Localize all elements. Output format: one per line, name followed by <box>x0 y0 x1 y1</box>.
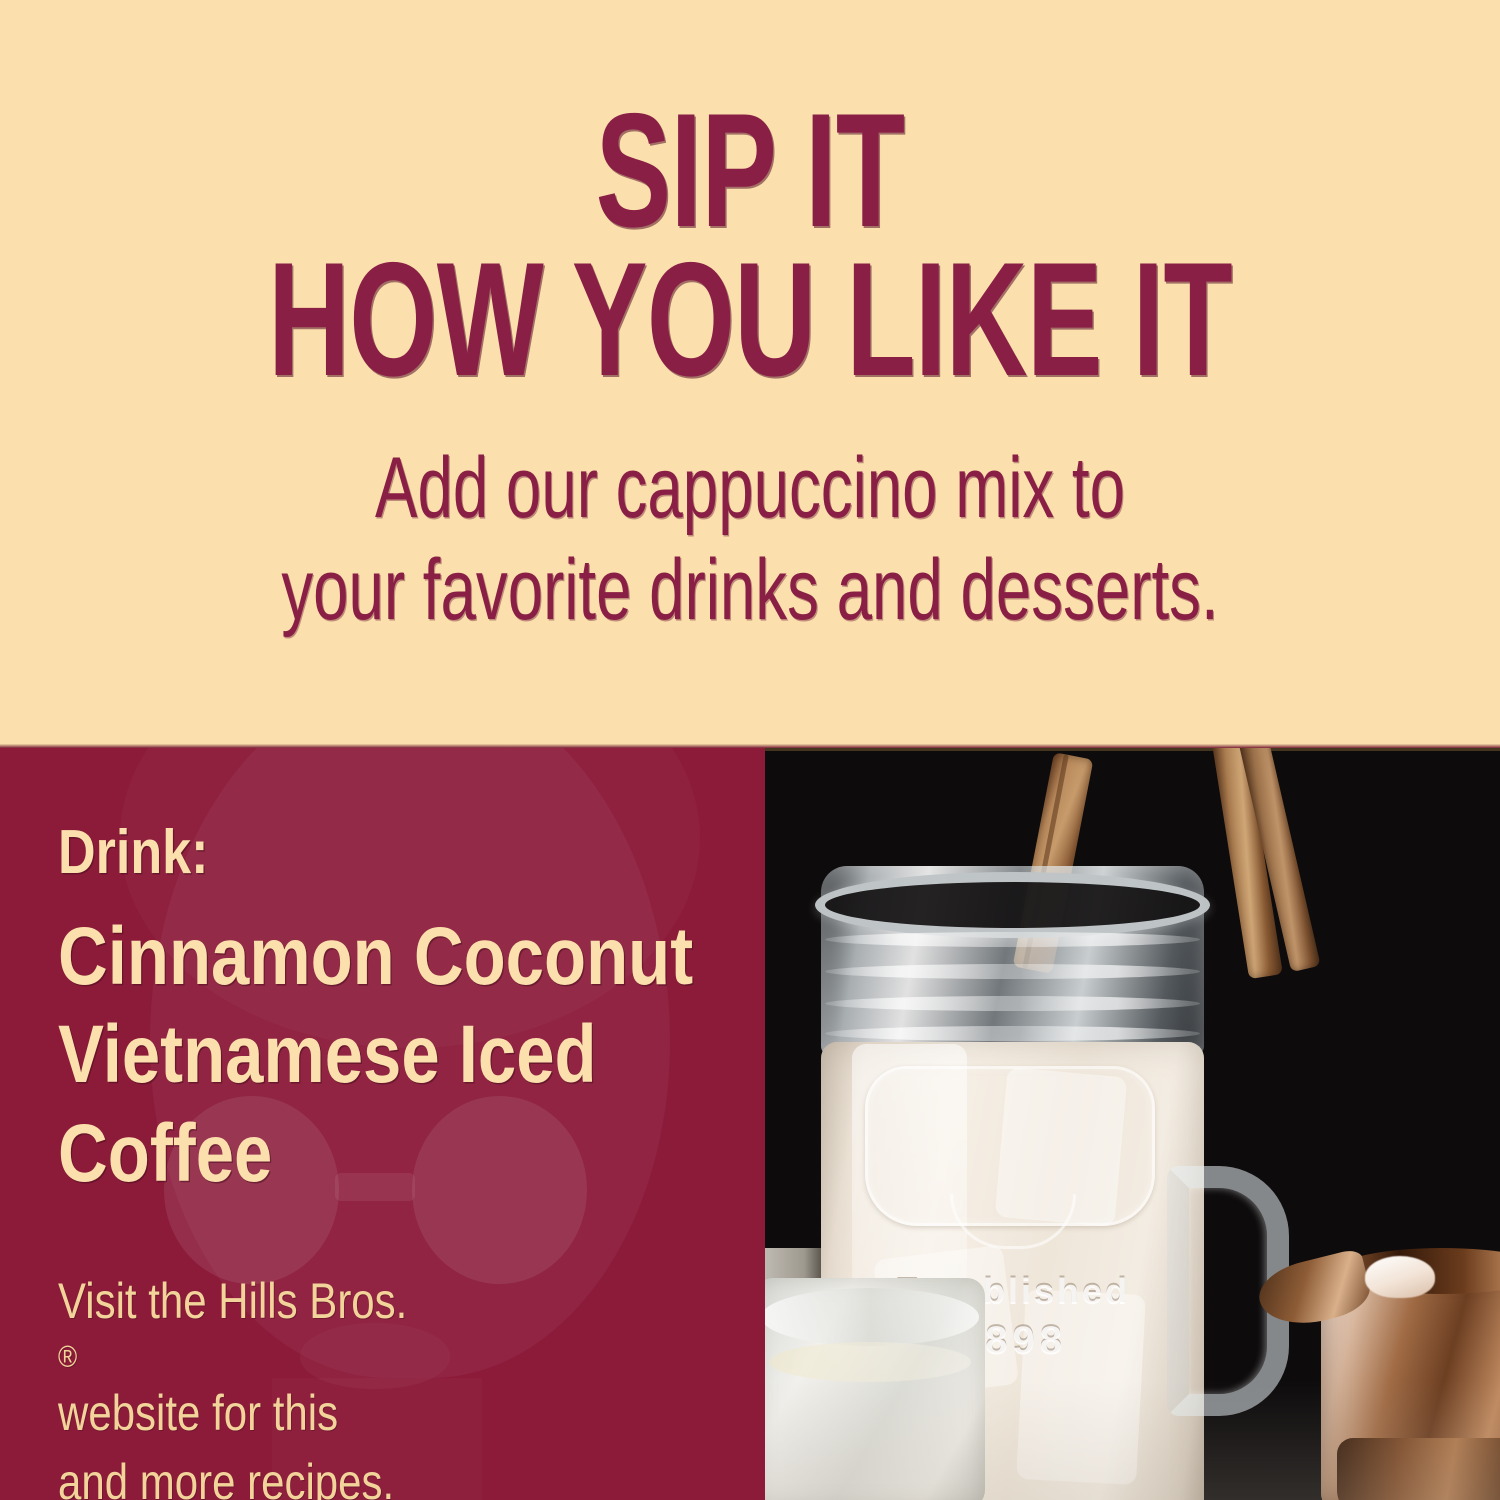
footnote-line-1: Visit the Hills Bros.® website for this <box>58 1267 646 1448</box>
jar-embossed-cartouche <box>865 1066 1155 1226</box>
jar-thread <box>825 932 1200 947</box>
jar-thread <box>825 1026 1200 1041</box>
drink-name-line-1: Cinnamon Coconut <box>58 908 618 1006</box>
registered-trademark-icon: ® <box>58 1336 646 1379</box>
footnote-text-post: website for this <box>58 1379 646 1448</box>
jar-rim <box>815 872 1210 938</box>
header-panel: SIP IT HOW YOU LIKE IT Add our cappuccin… <box>0 0 1500 748</box>
recipe-footnote: Visit the Hills Bros.® website for this … <box>58 1267 646 1500</box>
subheading-line-1: Add our cappuccino mix to <box>195 438 1305 539</box>
advertisement-canvas: SIP IT HOW YOU LIKE IT Add our cappuccin… <box>0 0 1500 1500</box>
drink-name-line-2: Vietnamese Iced <box>58 1006 618 1104</box>
subheading-line-2: your favorite drinks and desserts. <box>195 540 1305 641</box>
drink-name-line-3: Coffee <box>58 1105 618 1203</box>
footnote-text-pre: Visit the Hills Bros. <box>58 1267 646 1336</box>
jar-thread <box>825 996 1200 1011</box>
product-photo: Established 1898 <box>765 748 1500 1500</box>
footnote-line-2: and more recipes. <box>58 1448 646 1500</box>
drink-label: Drink: <box>58 822 618 884</box>
jar-thread <box>825 964 1200 979</box>
pitcher-foam <box>1365 1256 1435 1298</box>
recipe-text-block: Drink: Cinnamon Coconut Vietnamese Iced … <box>0 748 765 1203</box>
headline-line-1: SIP IT <box>225 96 1275 245</box>
headline-line-2: HOW YOU LIKE IT <box>225 245 1275 394</box>
table-surface-glow <box>765 1380 1500 1500</box>
page-title: SIP IT HOW YOU LIKE IT <box>225 96 1275 394</box>
subheading: Add our cappuccino mix to your favorite … <box>195 438 1305 641</box>
drink-name: Cinnamon Coconut Vietnamese Iced Coffee <box>58 908 618 1203</box>
recipe-panel: Drink: Cinnamon Coconut Vietnamese Iced … <box>0 748 765 1500</box>
